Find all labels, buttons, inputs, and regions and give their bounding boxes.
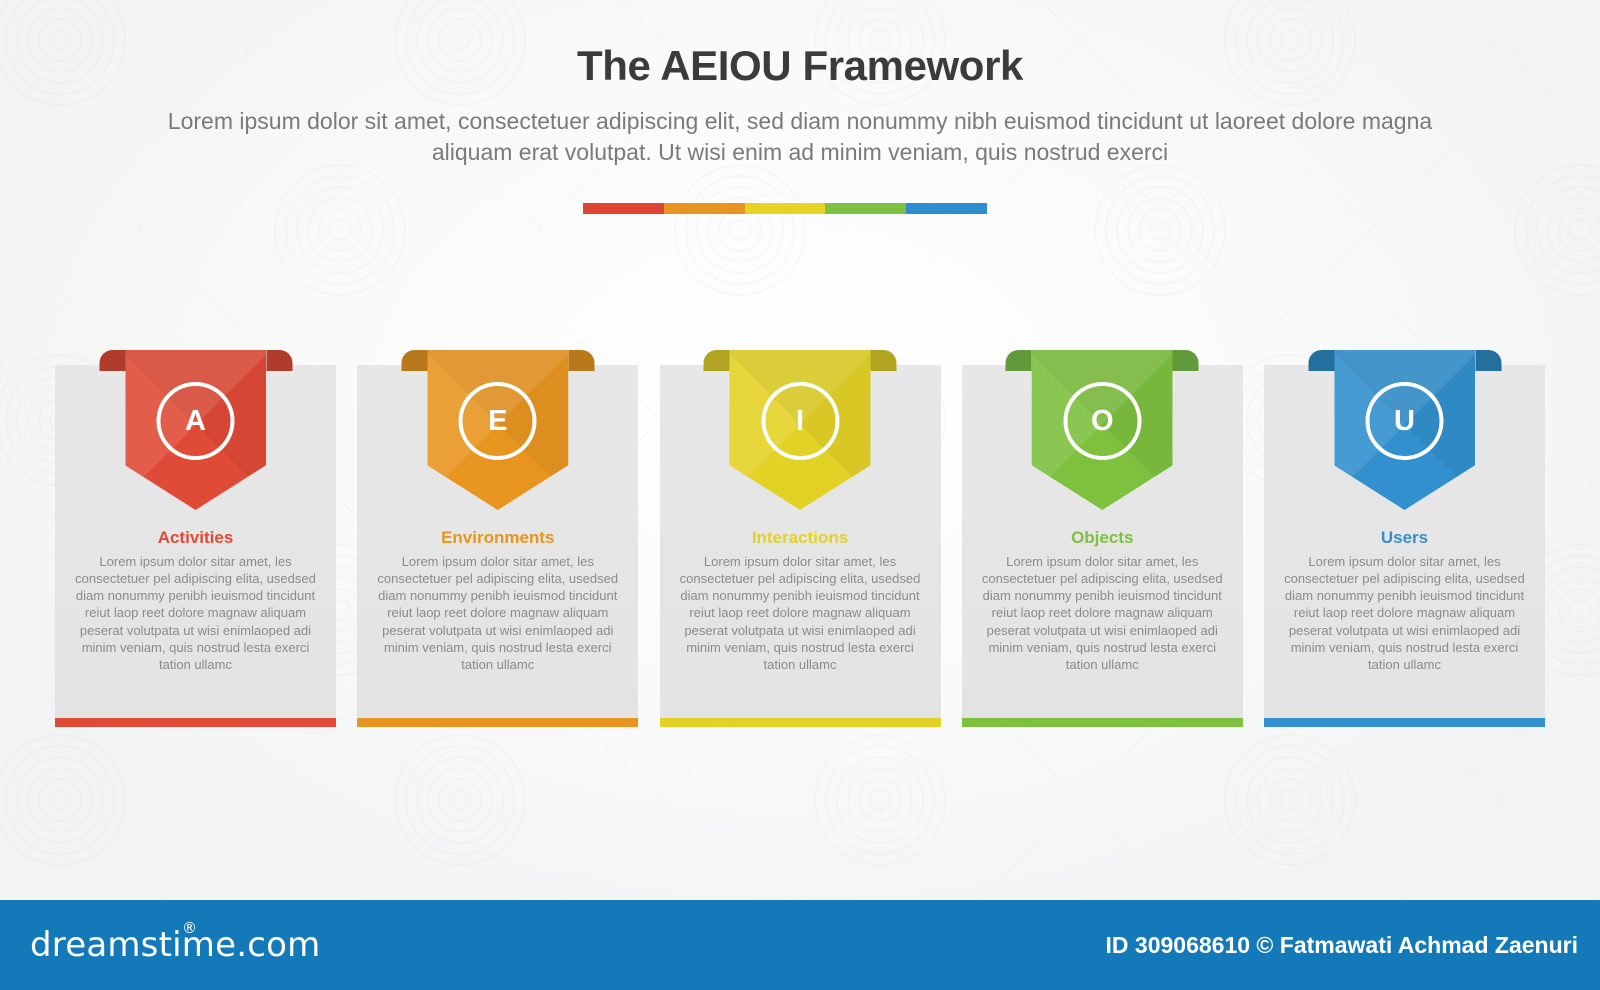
card-accent-bar [357,718,638,727]
cards-row: AActivitiesLorem ipsum dolor sitar amet,… [55,350,1545,740]
ribbon-wing-right [1475,350,1501,371]
header: The AEIOU Framework Lorem ipsum dolor si… [0,0,1600,167]
card-title: Objects [962,528,1243,548]
card-activities[interactable]: AActivitiesLorem ipsum dolor sitar amet,… [55,350,336,740]
card-description: Lorem ipsum dolor sitar amet, les consec… [1282,553,1527,673]
divider-segment-5 [906,203,987,214]
ribbon-wing-left [99,350,125,371]
card-objects[interactable]: OObjectsLorem ipsum dolor sitar amet, le… [962,350,1243,740]
watermark-mark [665,155,815,305]
dreamstime-logo: dreamstime.com ® [30,925,320,965]
card-title: Environments [357,528,638,548]
card-title: Activities [55,528,336,548]
divider-segment-3 [745,203,826,214]
card-description: Lorem ipsum dolor sitar amet, les consec… [980,553,1225,673]
divider-segment-4 [825,203,906,214]
ribbon-banner-icon: I [730,350,871,510]
ribbon-banner-icon: A [125,350,266,510]
watermark-mark [265,155,415,305]
card-users[interactable]: UUsersLorem ipsum dolor sitar amet, les … [1264,350,1545,740]
ribbon-banner-icon: U [1334,350,1475,510]
registered-mark-icon: ® [182,919,197,937]
watermark-mark [805,725,955,875]
ribbon-wing-right [1173,350,1199,371]
brand-text: dreamstime.com [30,925,320,965]
image-credit: ID 309068610 © Fatmawati Achmad Zaenuri [1106,932,1578,959]
watermark-mark [1215,725,1365,875]
letter-badge: O [1063,382,1141,460]
divider-segment-2 [664,203,745,214]
card-environments[interactable]: EEnvironmentsLorem ipsum dolor sitar ame… [357,350,638,740]
card-accent-bar [962,718,1243,727]
ribbon-wing-left [704,350,730,371]
card-description: Lorem ipsum dolor sitar amet, les consec… [375,553,620,673]
card-description: Lorem ipsum dolor sitar amet, les consec… [73,553,318,673]
card-accent-bar [1264,718,1545,727]
watermark-mark [1085,155,1235,305]
letter-badge: I [761,382,839,460]
card-description: Lorem ipsum dolor sitar amet, les consec… [678,553,923,673]
ribbon-banner-icon: E [427,350,568,510]
letter-badge: A [157,382,235,460]
card-title: Interactions [660,528,941,548]
card-title: Users [1264,528,1545,548]
color-divider [583,203,987,214]
ribbon-wing-right [871,350,897,371]
card-accent-bar [55,718,336,727]
watermark-mark [0,725,135,875]
footer-bar: dreamstime.com ® ID 309068610 © Fatmawat… [0,900,1600,990]
ribbon-banner-icon: O [1032,350,1173,510]
letter-badge: U [1366,382,1444,460]
card-accent-bar [660,718,941,727]
ribbon-wing-left [1308,350,1334,371]
watermark-mark [385,725,535,875]
card-interactions[interactable]: IInteractionsLorem ipsum dolor sitar ame… [660,350,941,740]
ribbon-wing-right [266,350,292,371]
letter-badge: E [459,382,537,460]
ribbon-wing-left [1006,350,1032,371]
watermark-mark [1505,155,1600,305]
page-subtitle: Lorem ipsum dolor sit amet, consectetuer… [130,106,1470,167]
ribbon-wing-right [568,350,594,371]
page-title: The AEIOU Framework [0,42,1600,90]
divider-segment-1 [583,203,664,214]
ribbon-wing-left [401,350,427,371]
